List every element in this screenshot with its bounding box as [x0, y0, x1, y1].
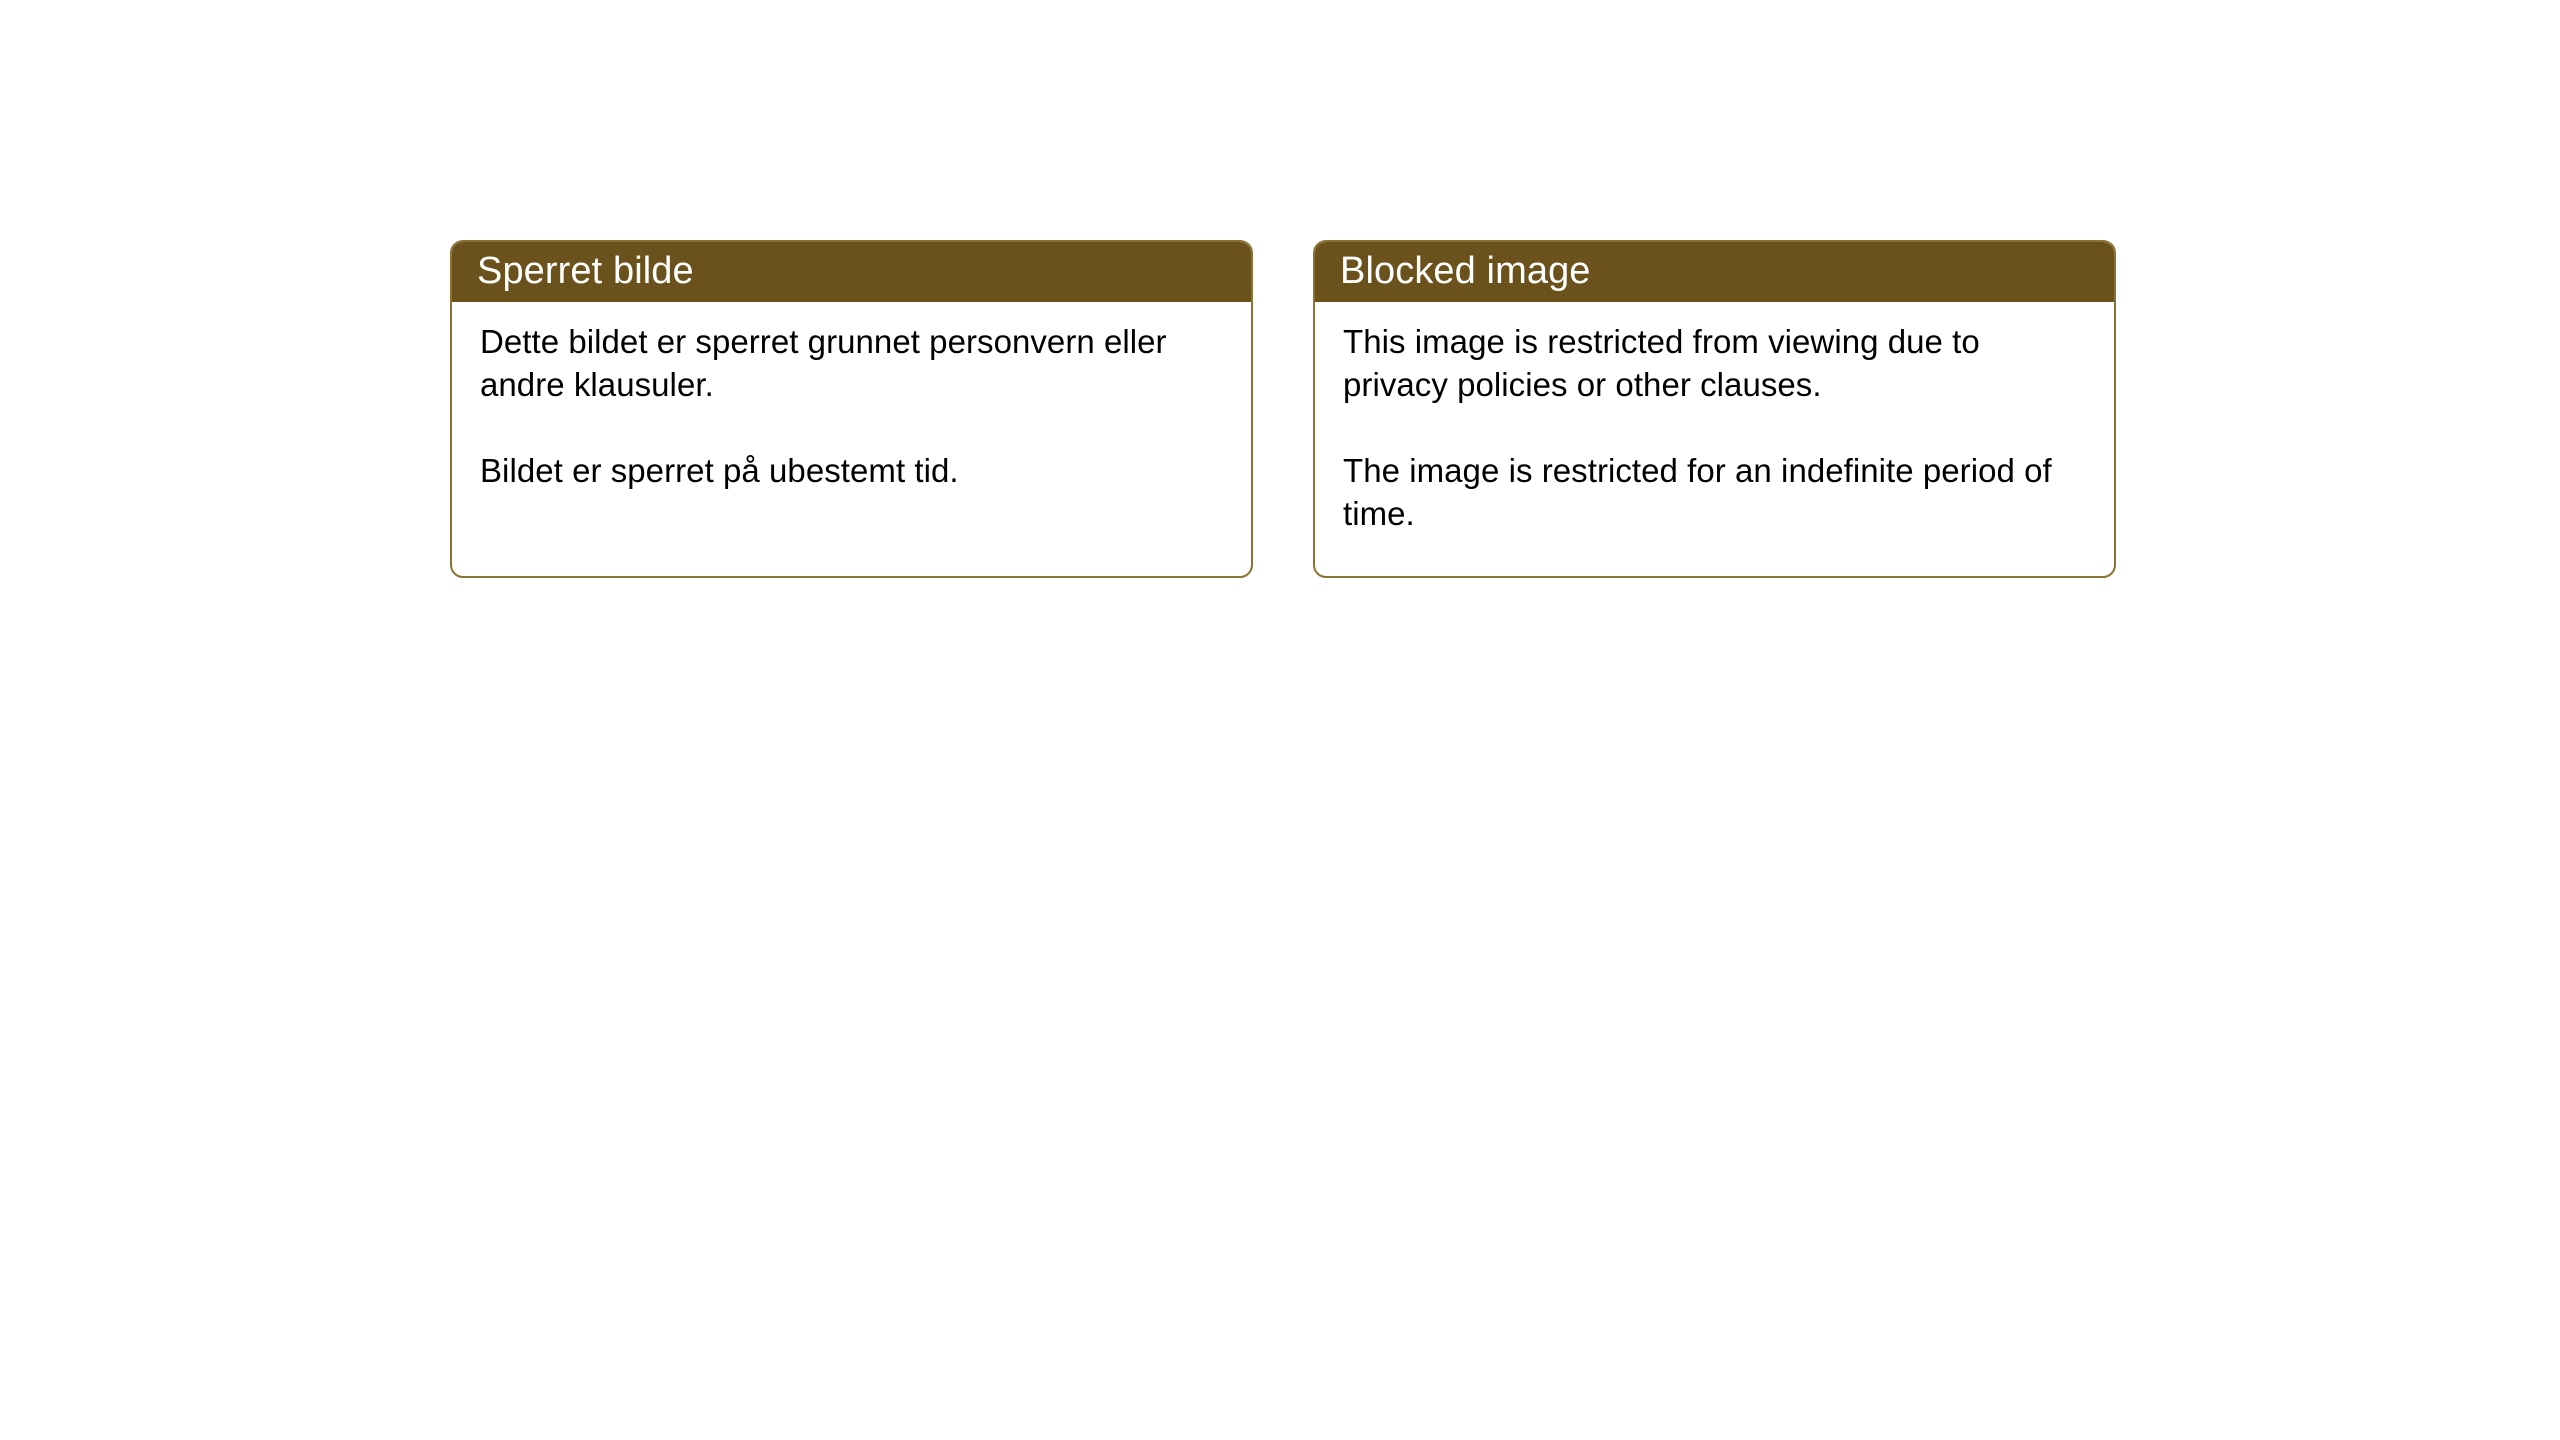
- card-title: Sperret bilde: [477, 252, 694, 290]
- card-header-norwegian: Sperret bilde: [450, 240, 1253, 302]
- card-paragraph-reason: This image is restricted from viewing du…: [1343, 320, 2090, 406]
- page-canvas: Sperret bilde Dette bildet er sperret gr…: [0, 0, 2560, 1440]
- card-paragraph-duration: Bildet er sperret på ubestemt tid.: [480, 449, 1227, 492]
- card-body-english: This image is restricted from viewing du…: [1315, 302, 2114, 535]
- blocked-image-card-norwegian: Sperret bilde Dette bildet er sperret gr…: [450, 240, 1253, 578]
- blocked-image-card-english: Blocked image This image is restricted f…: [1313, 240, 2116, 578]
- card-paragraph-duration: The image is restricted for an indefinit…: [1343, 449, 2090, 535]
- card-title: Blocked image: [1340, 252, 1591, 290]
- card-paragraph-reason: Dette bildet er sperret grunnet personve…: [480, 320, 1227, 406]
- card-body-norwegian: Dette bildet er sperret grunnet personve…: [452, 302, 1251, 492]
- card-header-english: Blocked image: [1313, 240, 2116, 302]
